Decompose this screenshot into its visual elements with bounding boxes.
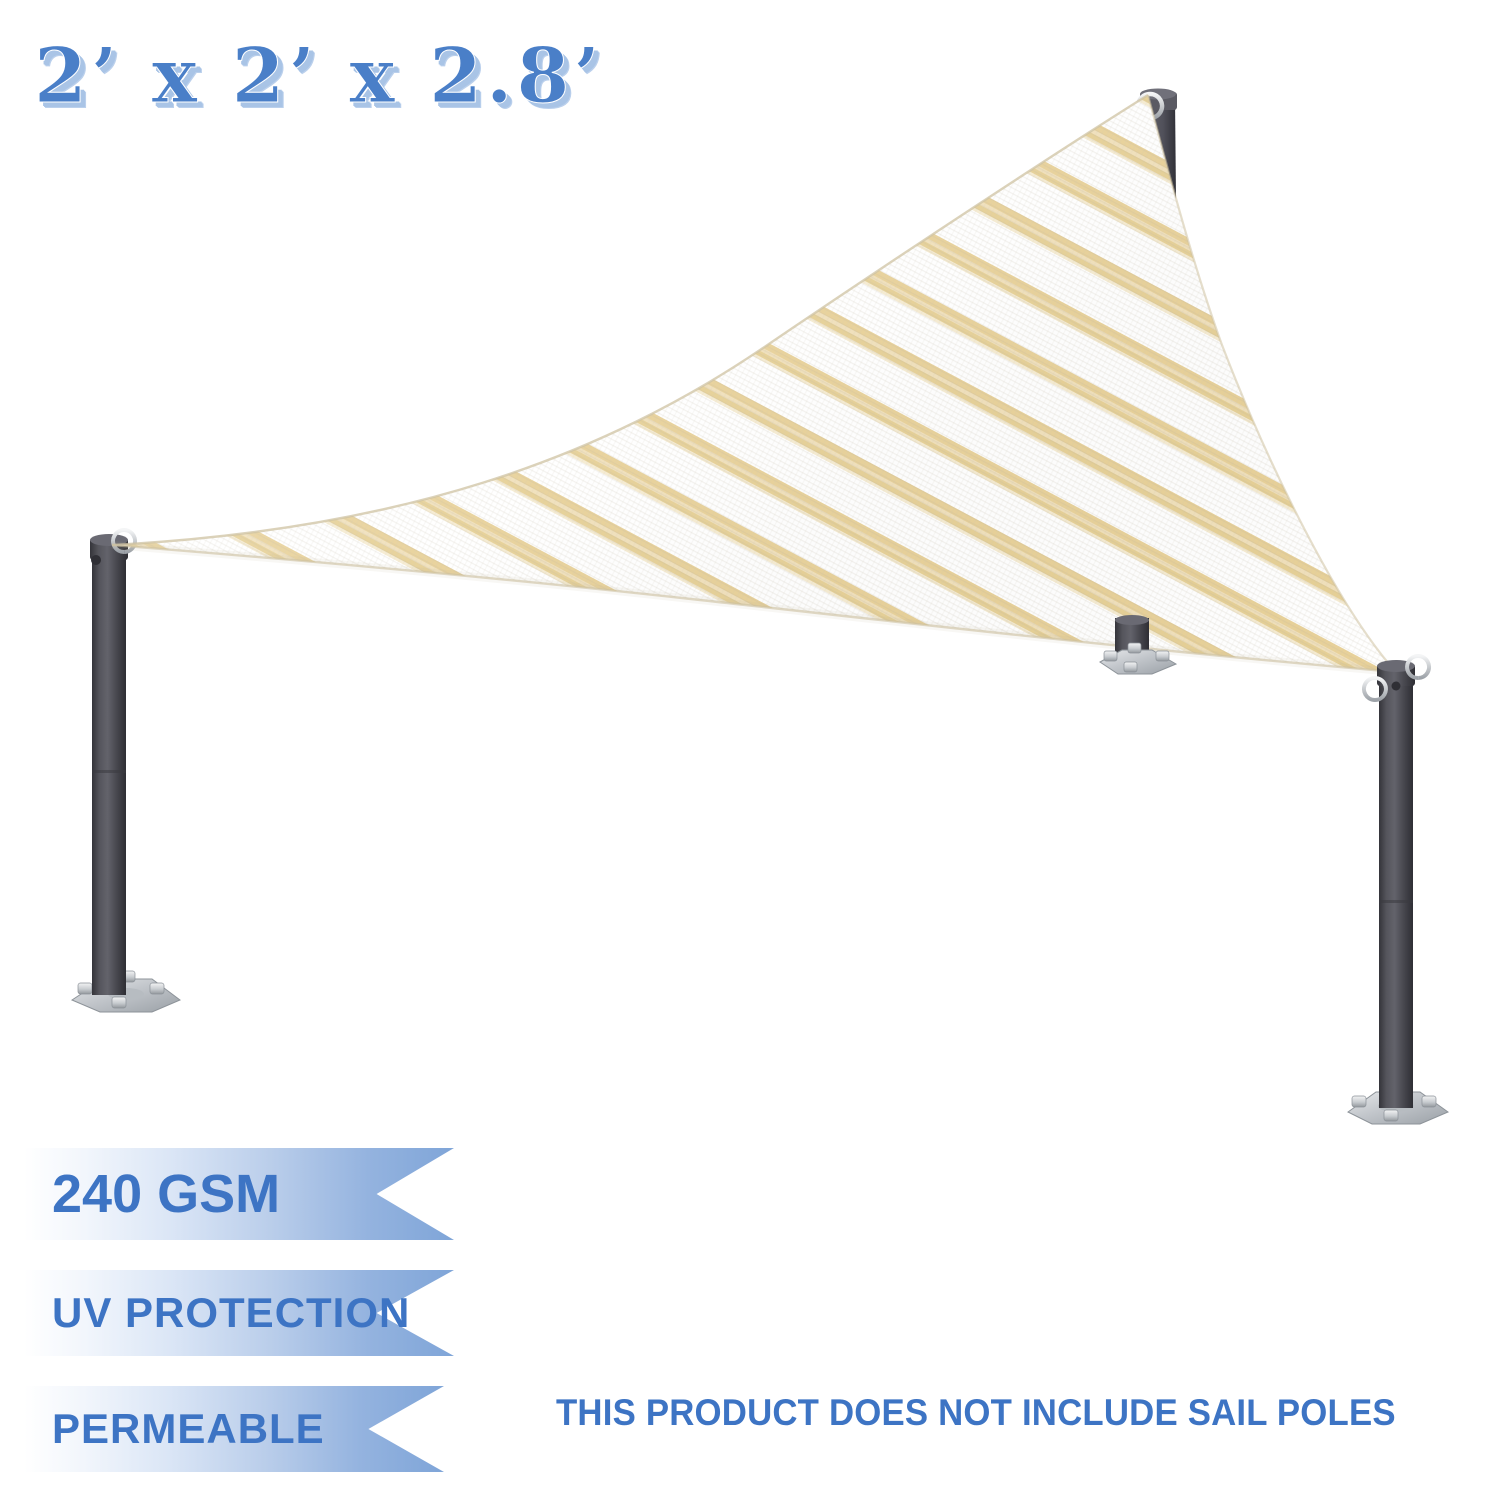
feature-ribbons: 240 GSM UV PROTECTION PERMEABLE <box>24 1148 454 1502</box>
left-pole <box>72 530 180 1012</box>
right-pole <box>1348 656 1448 1124</box>
disclaimer-text: THIS PRODUCT DOES NOT INCLUDE SAIL POLES <box>556 1392 1396 1434</box>
ribbon-permeable-label: PERMEABLE <box>52 1405 325 1453</box>
ribbon-permeable: PERMEABLE <box>24 1386 444 1472</box>
size-title-text: 2’ x 2’ x 2.8’ <box>34 38 604 114</box>
size-title: 2’ x 2’ x 2.8’ <box>34 38 604 114</box>
ribbon-uv-protection: UV PROTECTION <box>24 1270 454 1356</box>
product-image-canvas: 2’ x 2’ x 2.8’ <box>0 0 1500 1500</box>
ribbon-uv-protection-label: UV PROTECTION <box>52 1289 410 1337</box>
ribbon-gsm-label: 240 GSM <box>52 1163 280 1225</box>
ribbon-gsm: 240 GSM <box>24 1148 454 1240</box>
